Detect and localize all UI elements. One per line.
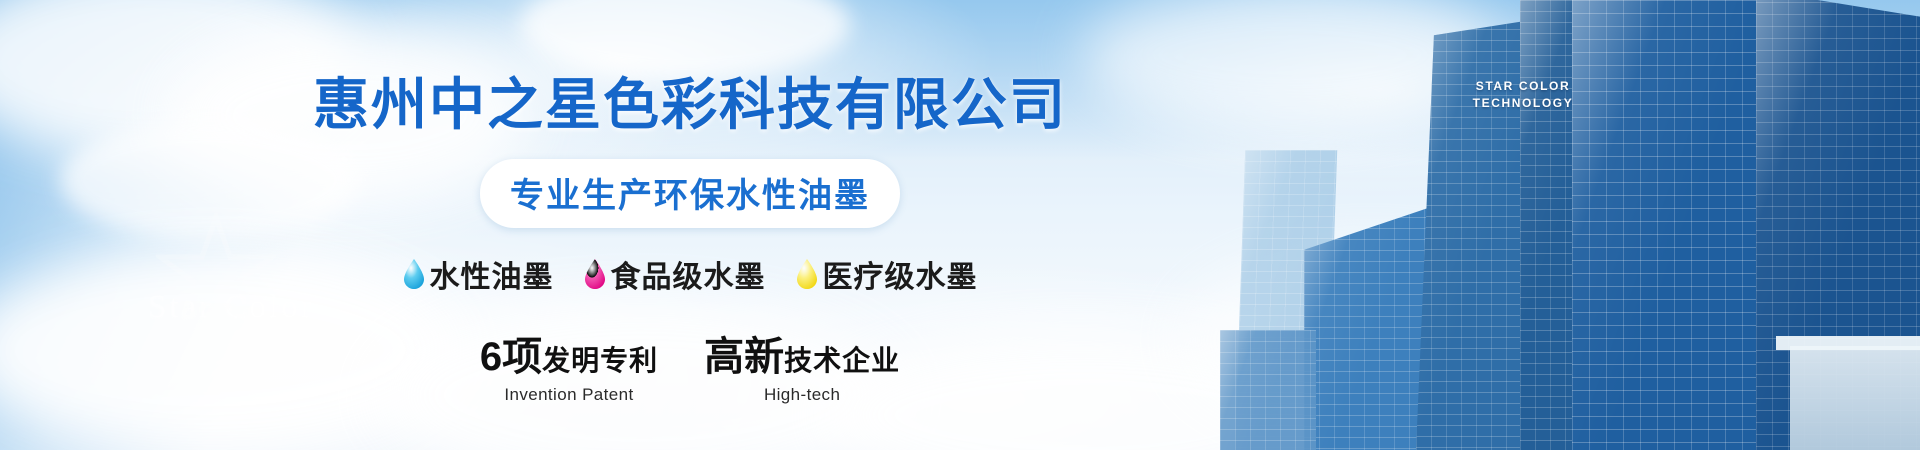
building-spire [1520, 0, 1578, 450]
badge-item: 高新 技术企业 High-tech [704, 324, 900, 405]
badge-english-text: High-tech [764, 385, 840, 405]
subtitle-text: 专业生产环保水性油墨 [510, 168, 870, 217]
feature-label: 水性油墨 [430, 252, 554, 296]
badge-line: 高新 技术企业 [704, 324, 900, 382]
badge-small-text: 发明专利 [542, 339, 658, 379]
ink-drop-icon [584, 259, 606, 289]
company-title: 惠州中之星色彩科技有限公司 [313, 60, 1067, 141]
badge-big-text: 6项 [480, 324, 542, 382]
banner-content: 惠州中之星色彩科技有限公司 专业生产环保水性油墨 水性油墨 [0, 0, 1380, 450]
badge-english-text: Invention Patent [504, 385, 633, 405]
badge-list: 6项 发明专利 Invention Patent 高新 技术企业 High-te… [480, 324, 900, 405]
promo-banner: Star Color [0, 0, 1920, 450]
feature-item: 水性油墨 [403, 252, 554, 296]
badge-small-text: 技术企业 [784, 339, 900, 379]
building-podium [1790, 346, 1920, 450]
ink-drop-icon [403, 259, 425, 289]
badge-line: 6项 发明专利 [480, 324, 658, 382]
badge-item: 6项 发明专利 Invention Patent [480, 324, 658, 405]
subtitle-pill: 专业生产环保水性油墨 [480, 159, 900, 228]
building-sign-line2: TECHNOLOGY [1461, 95, 1585, 112]
building-podium-roof [1776, 336, 1920, 350]
feature-list: 水性油墨 食品级水墨 [403, 252, 978, 296]
ink-drop-icon [796, 259, 818, 289]
feature-label: 食品级水墨 [611, 252, 766, 296]
feature-item: 食品级水墨 [584, 252, 766, 296]
building-sign-line1: STAR COLOR [1461, 78, 1585, 95]
building-sign-text: STAR COLOR TECHNOLOGY [1461, 78, 1585, 112]
building-sign-tower [1572, 0, 1768, 450]
feature-item: 医疗级水墨 [796, 252, 978, 296]
feature-label: 医疗级水墨 [823, 252, 978, 296]
badge-big-text: 高新 [704, 324, 784, 382]
